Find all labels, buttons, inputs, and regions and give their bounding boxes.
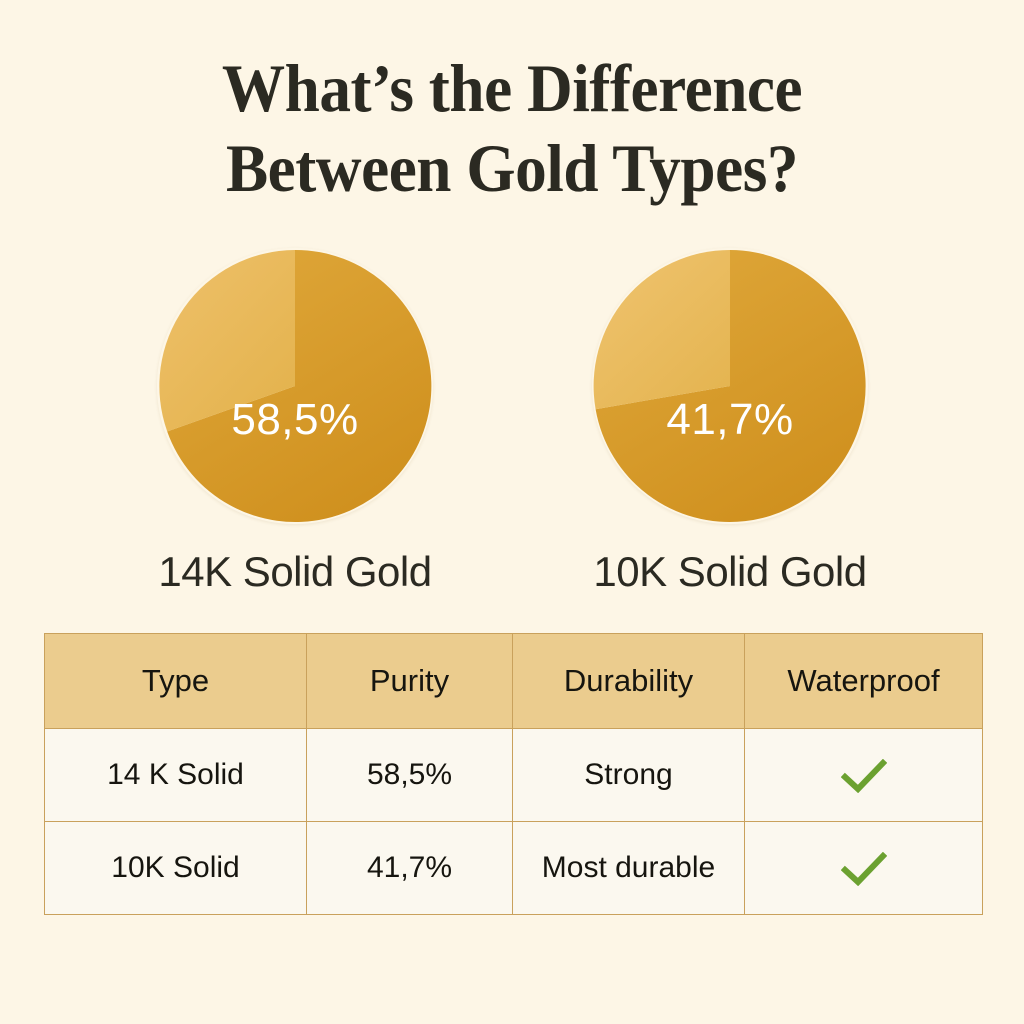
column-header-purity: Purity: [307, 634, 513, 729]
cell-durability: Strong: [513, 729, 745, 822]
column-header-durability: Durability: [513, 634, 745, 729]
table-row: 14 K Solid 58,5% Strong: [45, 729, 983, 822]
comparison-table: Type Purity Durability Waterproof 14 K S…: [44, 633, 983, 915]
infographic-canvas: What’s the Difference Between Gold Types…: [0, 0, 1024, 1024]
pie-value-label-14k: 58,5%: [157, 248, 433, 524]
cell-waterproof: [745, 822, 983, 915]
pie-caption-10k: 10K Solid Gold: [560, 548, 900, 596]
chart-block-10k: 41,7% 10K Solid Gold: [560, 248, 900, 596]
chart-block-14k: 58,5% 14K Solid Gold: [125, 248, 465, 596]
pie-chart-10k: 41,7%: [592, 248, 868, 524]
check-icon: [841, 852, 887, 886]
title-line-1: What’s the Difference: [36, 48, 988, 128]
pie-chart-14k: 58,5%: [157, 248, 433, 524]
check-icon: [841, 759, 887, 793]
cell-durability: Most durable: [513, 822, 745, 915]
page-title: What’s the Difference Between Gold Types…: [0, 48, 1024, 208]
pie-value-label-10k: 41,7%: [592, 248, 868, 524]
table-row: 10K Solid 41,7% Most durable: [45, 822, 983, 915]
table-header-row: Type Purity Durability Waterproof: [45, 634, 983, 729]
cell-waterproof: [745, 729, 983, 822]
cell-purity: 41,7%: [307, 822, 513, 915]
column-header-waterproof: Waterproof: [745, 634, 983, 729]
title-line-2: Between Gold Types?: [36, 128, 988, 208]
column-header-type: Type: [45, 634, 307, 729]
cell-type: 14 K Solid: [45, 729, 307, 822]
cell-type: 10K Solid: [45, 822, 307, 915]
cell-purity: 58,5%: [307, 729, 513, 822]
pie-caption-14k: 14K Solid Gold: [125, 548, 465, 596]
